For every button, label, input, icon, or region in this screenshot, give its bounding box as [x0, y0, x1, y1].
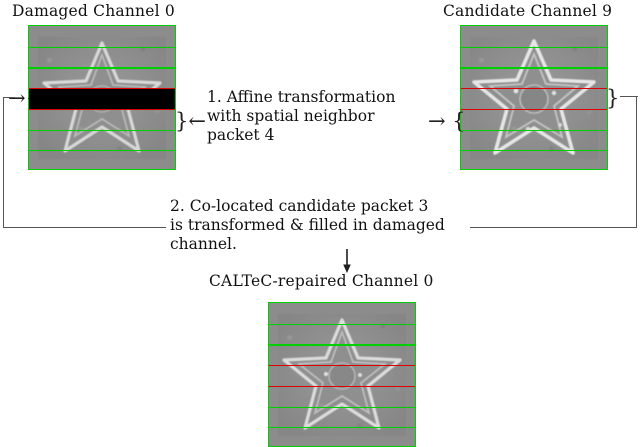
packet-separator [269, 344, 415, 345]
packet-separator [461, 67, 607, 68]
caltec-repair-diagram: Damaged Channel 0 Candidate Channel 9 CA… [0, 0, 640, 446]
panel-repaired-channel-0 [268, 302, 416, 447]
packet-separator [269, 407, 415, 408]
packet-separator [269, 427, 415, 428]
panel-candidate-channel-9 [460, 25, 608, 170]
damaged-brace-out-arrow: }← [175, 111, 206, 132]
candidate-brace-out: } [606, 88, 619, 109]
connector-left-bottom [3, 227, 166, 228]
packet-separator [461, 150, 607, 151]
repaired-packet-strip [268, 365, 416, 387]
caption-candidate-channel: Candidate Channel 9 [443, 2, 612, 20]
packet-separator [269, 324, 415, 325]
packet-separator [29, 67, 175, 68]
packet-separator [461, 130, 607, 131]
connector-right-bottom [470, 227, 637, 228]
selected-candidate-packet-strip [460, 88, 608, 110]
packet-separator [29, 47, 175, 48]
connector-right-vertical [636, 96, 637, 228]
panel-damaged-channel-0 [28, 25, 176, 170]
connector-left-vertical [3, 97, 4, 228]
packet-separator [29, 130, 175, 131]
step-2-label: 2. Co-located candidate packet 3 is tran… [170, 197, 470, 254]
arrow-into-candidate-brace: → { [428, 111, 466, 132]
connector-left-top [3, 97, 15, 98]
caption-damaged-channel: Damaged Channel 0 [12, 2, 175, 20]
packet-separator [461, 47, 607, 48]
step-1-label: 1. Affine transformation with spatial ne… [207, 88, 432, 145]
caption-repaired-channel: CALTeC-repaired Channel 0 [209, 272, 434, 290]
lost-packet-strip [28, 88, 176, 110]
packet-separator [29, 150, 175, 151]
down-arrow-icon [341, 249, 353, 273]
